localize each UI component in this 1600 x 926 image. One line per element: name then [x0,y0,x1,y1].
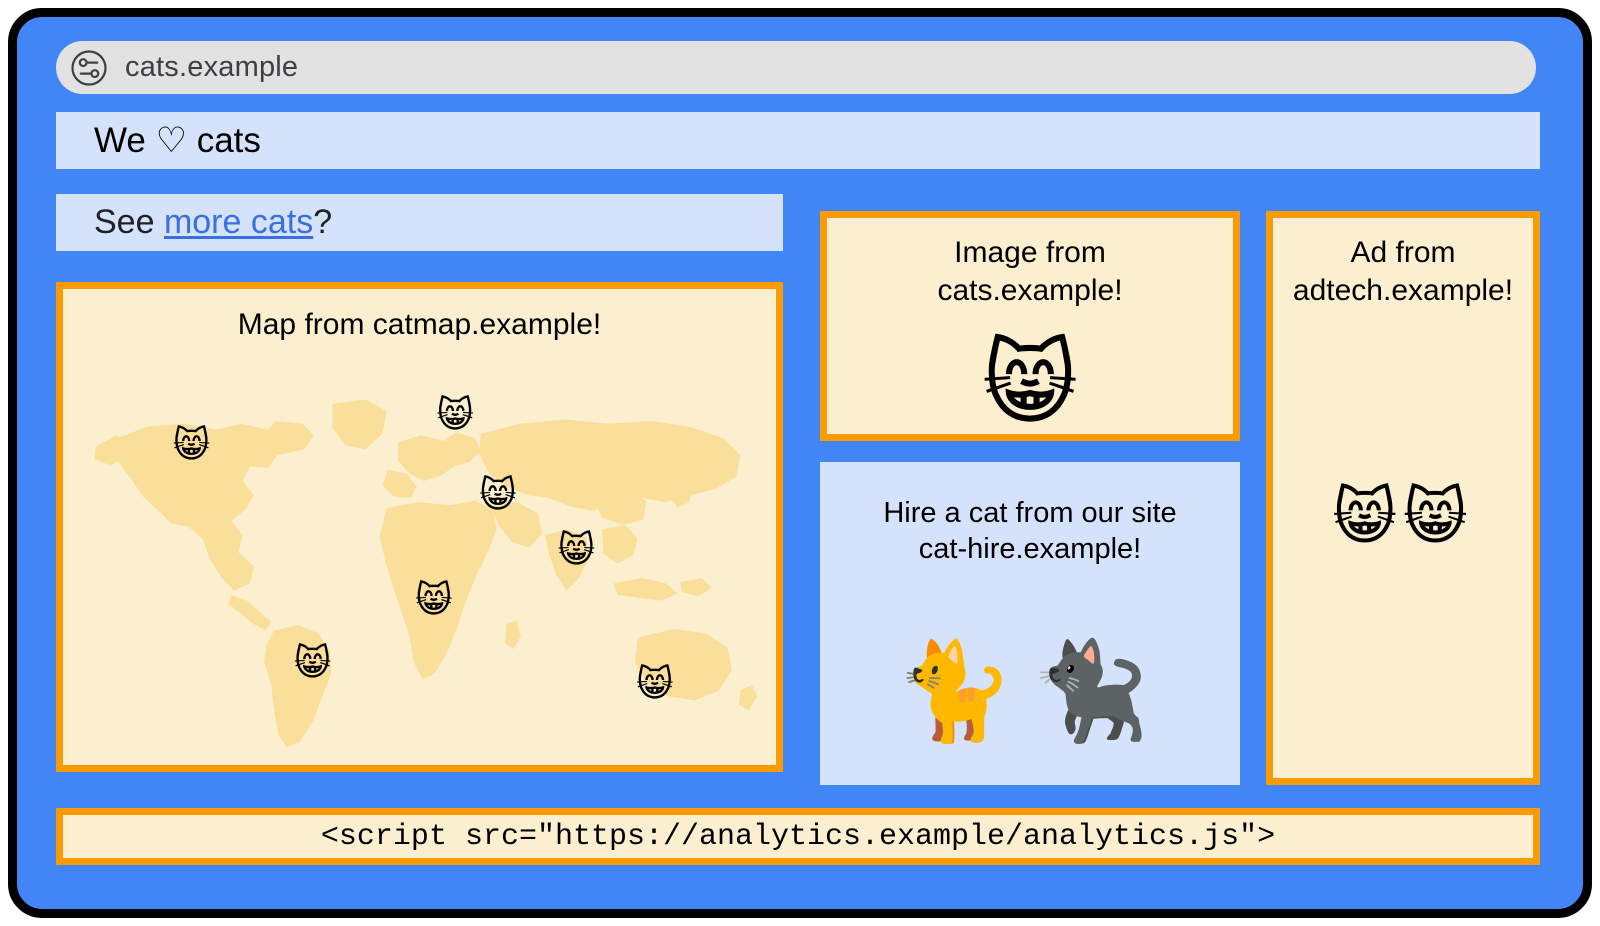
address-bar[interactable]: cats.example [56,41,1536,94]
image-panel-title-line1: Image from [827,234,1233,272]
link-banner: See more cats? [56,194,783,251]
ad-panel-title: Ad from adtech.example! [1273,234,1533,309]
browser-window: cats.example We ♡ cats See more cats? Ma… [8,8,1592,918]
cat-pair-icon: 🐈🐈‍⬛ [820,643,1240,739]
map-marker-australia[interactable]: 😸 [636,667,674,703]
map-marker-south-asia[interactable]: 😸 [558,533,596,569]
hero-banner: We ♡ cats [56,112,1540,169]
address-bar-url[interactable]: cats.example [125,51,298,84]
hero-text-before: We [94,121,156,160]
map-panel-title: Map from catmap.example! [63,306,776,344]
world-map[interactable]: 😸 😸 😸 😸 😸 😸 😸 [63,345,776,765]
tune-sliders-icon[interactable] [70,49,108,87]
script-tag-bar: <script src="https://analytics.example/a… [56,808,1540,865]
image-panel[interactable]: Image from cats.example! 😸 [820,211,1240,441]
grinning-cat-pair-icon: 😸😸 [1273,486,1533,548]
link-suffix: ? [313,203,332,241]
map-marker-west-africa[interactable]: 😸 [415,583,453,619]
link-banner-text: See more cats? [94,203,332,242]
hire-panel-title-line1: Hire a cat from our site [820,495,1240,531]
hire-panel-title: Hire a cat from our site cat-hire.exampl… [820,495,1240,568]
ad-panel[interactable]: Ad from adtech.example! 😸😸 [1266,211,1540,785]
more-cats-link[interactable]: more cats [164,203,313,241]
hero-text-after: cats [187,121,261,160]
script-tag-code: <script src="https://analytics.example/a… [321,820,1275,854]
image-panel-title: Image from cats.example! [827,234,1233,309]
heart-icon: ♡ [156,121,187,161]
hire-panel[interactable]: Hire a cat from our site cat-hire.exampl… [820,462,1240,785]
image-panel-title-line2: cats.example! [827,272,1233,310]
link-prefix: See [94,203,164,241]
ad-panel-title-line2: adtech.example! [1273,272,1533,310]
ad-panel-title-line1: Ad from [1273,234,1533,272]
map-marker-northern-europe[interactable]: 😸 [436,398,474,434]
map-marker-southern-europe[interactable]: 😸 [479,478,517,514]
map-marker-south-america[interactable]: 😸 [294,646,332,682]
map-panel[interactable]: Map from catmap.example! [56,282,783,772]
hero-text: We ♡ cats [94,121,261,161]
hire-panel-title-line2: cat-hire.example! [820,531,1240,567]
map-marker-north-america[interactable]: 😸 [173,428,211,464]
grinning-cat-icon: 😸 [827,338,1233,430]
